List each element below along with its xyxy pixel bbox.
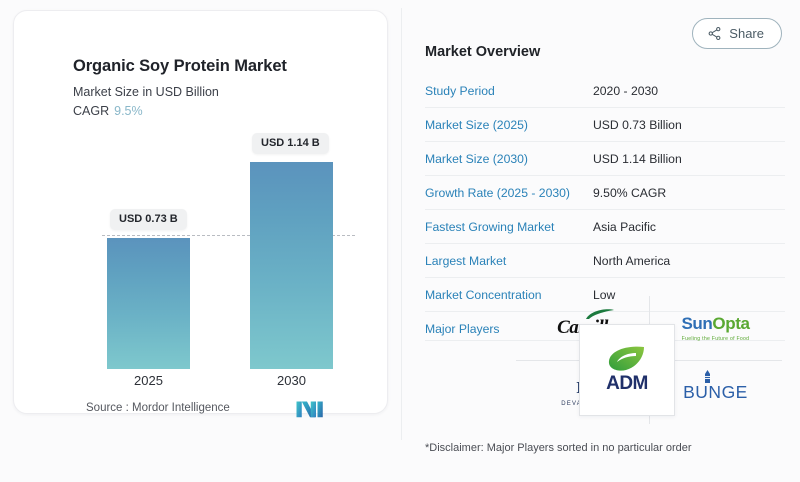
row-value: 2020 - 2030 <box>593 74 785 108</box>
table-row: Largest Market North America <box>425 244 785 278</box>
sunopta-tagline: Fueling the Future of Food <box>682 336 750 342</box>
row-label: Largest Market <box>425 244 593 278</box>
table-row: Market Size (2030) USD 1.14 Billion <box>425 142 785 176</box>
share-nodes-icon <box>707 26 722 41</box>
bunge-wordmark: BUNGE <box>683 382 748 402</box>
row-value: Asia Pacific <box>593 210 785 244</box>
source-text: Source : Mordor Intelligence <box>86 402 230 414</box>
share-label: Share <box>729 26 764 41</box>
bar-2025[interactable] <box>107 238 190 369</box>
row-label: Study Period <box>425 74 593 108</box>
bar-value-label-2030: USD 1.14 B <box>252 133 329 154</box>
adm-wordmark: ADM <box>606 373 648 395</box>
row-label: Market Size (2025) <box>425 108 593 142</box>
row-value: USD 1.14 Billion <box>593 142 785 176</box>
sunopta-opta-text: Opta <box>712 314 749 333</box>
bar-value-label-2025: USD 0.73 B <box>110 209 187 230</box>
overview-title: Market Overview <box>425 44 785 60</box>
panel-divider <box>401 8 402 440</box>
table-row: Study Period 2020 - 2030 <box>425 74 785 108</box>
chart-card: Organic Soy Protein Market Market Size i… <box>13 10 388 414</box>
sunopta-wordmark: SunOpta <box>681 314 749 334</box>
mordor-intelligence-logo <box>295 399 325 419</box>
logo-cell-adm[interactable]: ADM <box>579 324 675 416</box>
table-row: Growth Rate (2025 - 2030) 9.50% CAGR <box>425 176 785 210</box>
row-value: USD 0.73 Billion <box>593 108 785 142</box>
chart-cagr: CAGR9.5% <box>73 104 143 118</box>
row-value: 9.50% CAGR <box>593 176 785 210</box>
table-row: Fastest Growing Market Asia Pacific <box>425 210 785 244</box>
x-axis-label-2025: 2025 <box>107 373 190 388</box>
table-row: Market Size (2025) USD 0.73 Billion <box>425 108 785 142</box>
row-label: Fastest Growing Market <box>425 210 593 244</box>
cagr-value: 9.5% <box>114 104 143 118</box>
major-players-logo-grid: Cargill SunOpta Fueling the Future of Fo… <box>516 296 782 424</box>
adm-leaf-icon <box>606 345 648 373</box>
cagr-label: CAGR <box>73 104 109 118</box>
disclaimer-text: *Disclaimer: Major Players sorted in no … <box>425 442 692 454</box>
x-axis-label-2030: 2030 <box>250 373 333 388</box>
row-value: North America <box>593 244 785 278</box>
row-label: Market Size (2030) <box>425 142 593 176</box>
row-label: Growth Rate (2025 - 2030) <box>425 176 593 210</box>
page-root: Organic Soy Protein Market Market Size i… <box>0 0 800 482</box>
bar-chart-plot: USD 0.73 B USD 1.14 B 2025 2030 <box>28 129 375 369</box>
sunopta-sun-text: Sun <box>681 314 712 333</box>
cargill-leaf-icon <box>585 309 615 320</box>
bunge-elevator-icon <box>702 370 713 384</box>
chart-title: Organic Soy Protein Market <box>73 57 287 76</box>
bar-2030[interactable] <box>250 162 333 369</box>
chart-subtitle: Market Size in USD Billion <box>73 85 219 99</box>
